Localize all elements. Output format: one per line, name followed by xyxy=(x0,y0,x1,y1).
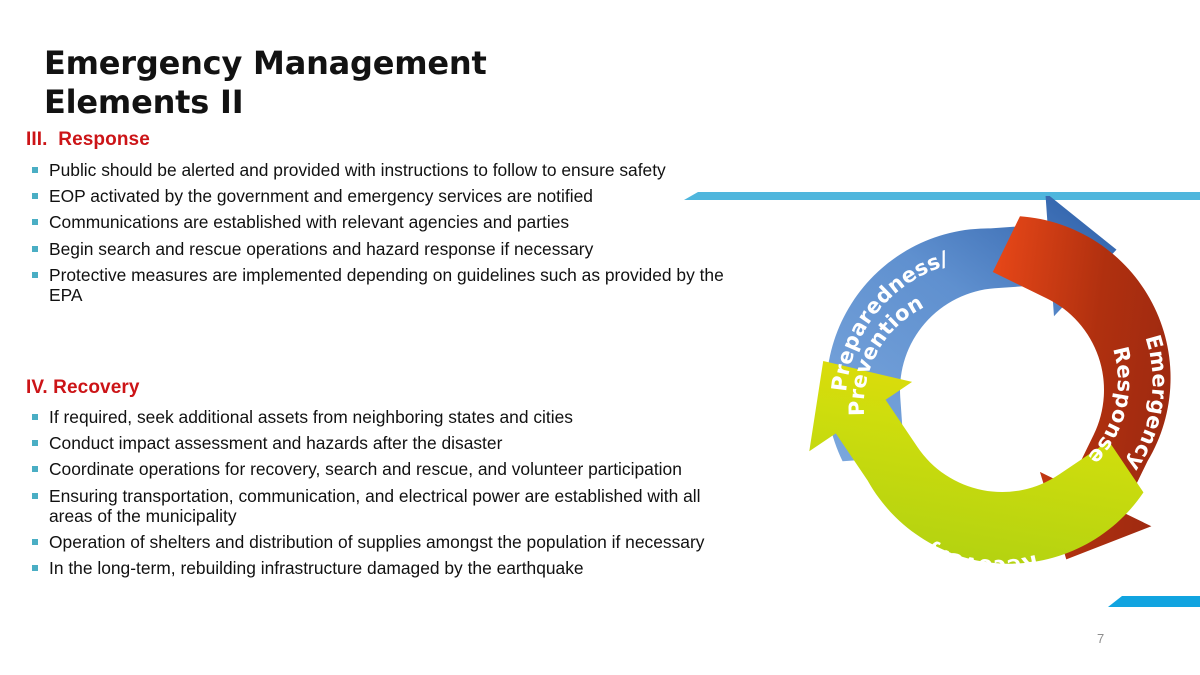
list-item: Ensuring transportation, communication, … xyxy=(26,486,746,526)
bullet-marker-icon xyxy=(32,565,38,571)
list-item-text: If required, seek additional assets from… xyxy=(49,407,746,427)
bullet-marker-icon xyxy=(32,466,38,472)
list-item-text: Conduct impact assessment and hazards af… xyxy=(49,433,746,453)
page-title: Emergency Management Elements II xyxy=(44,44,684,122)
bullet-marker-icon xyxy=(32,193,38,199)
list-item: Communications are established with rele… xyxy=(26,212,746,232)
bullet-marker-icon xyxy=(32,167,38,173)
list-item: Protective measures are implemented depe… xyxy=(26,265,746,305)
section-heading-recovery: IV. Recovery xyxy=(26,377,140,399)
list-item: Operation of shelters and distribution o… xyxy=(26,532,746,552)
bullet-marker-icon xyxy=(32,414,38,420)
list-item-text: In the long-term, rebuilding infrastruct… xyxy=(49,558,746,578)
list-item-text: Begin search and rescue operations and h… xyxy=(49,239,746,259)
list-item-text: Ensuring transportation, communication, … xyxy=(49,486,746,526)
bullet-list-recovery: If required, seek additional assets from… xyxy=(26,407,746,584)
bullet-list-response: Public should be alerted and provided wi… xyxy=(26,160,746,311)
list-item: Public should be alerted and provided wi… xyxy=(26,160,746,180)
list-item: Coordinate operations for recovery, sear… xyxy=(26,459,746,479)
emergency-management-cycle-diagram: Preparedness/ Prevention Emergency Respo… xyxy=(806,196,1196,626)
list-item: Begin search and rescue operations and h… xyxy=(26,239,746,259)
bullet-marker-icon xyxy=(32,539,38,545)
section-heading-response: III. Response xyxy=(26,129,150,151)
bullet-marker-icon xyxy=(32,272,38,278)
list-item: If required, seek additional assets from… xyxy=(26,407,746,427)
bullet-marker-icon xyxy=(32,493,38,499)
page-number: 7 xyxy=(1097,631,1104,646)
list-item: Conduct impact assessment and hazards af… xyxy=(26,433,746,453)
list-item: In the long-term, rebuilding infrastruct… xyxy=(26,558,746,578)
list-item-text: Communications are established with rele… xyxy=(49,212,746,232)
list-item: EOP activated by the government and emer… xyxy=(26,186,746,206)
bullet-marker-icon xyxy=(32,246,38,252)
list-item-text: Protective measures are implemented depe… xyxy=(49,265,746,305)
list-item-text: EOP activated by the government and emer… xyxy=(49,186,746,206)
bullet-marker-icon xyxy=(32,219,38,225)
bullet-marker-icon xyxy=(32,440,38,446)
list-item-text: Public should be alerted and provided wi… xyxy=(49,160,746,180)
slide: Emergency Management Elements II III. Re… xyxy=(0,0,1200,675)
list-item-text: Coordinate operations for recovery, sear… xyxy=(49,459,746,479)
list-item-text: Operation of shelters and distribution o… xyxy=(49,532,746,552)
